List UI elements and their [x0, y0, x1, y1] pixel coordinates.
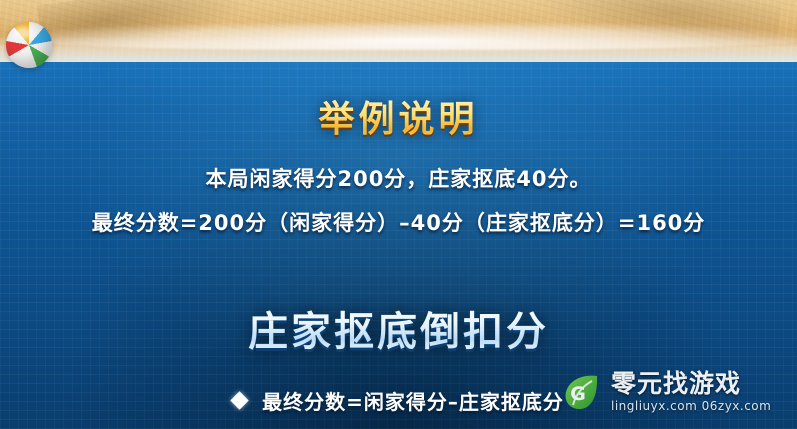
- game-help-screen: 举例说明 本局闲家得分200分，庄家抠底40分。 最终分数=200分（闲家得分）…: [0, 0, 797, 429]
- sand-strip: [0, 0, 797, 62]
- watermark-logo-icon: G: [559, 370, 603, 414]
- bullet-text: 最终分数=闲家得分–庄家抠底分: [262, 386, 564, 415]
- svg-text:G: G: [570, 383, 586, 405]
- section-heading: 庄家抠底倒扣分: [0, 299, 797, 357]
- watermark-text: 零元找游戏 lingliuyx.com 06zyx.com: [611, 371, 771, 413]
- watermark: G 零元找游戏 lingliuyx.com 06zyx.com: [559, 363, 789, 421]
- watermark-brand: 零元找游戏: [611, 371, 771, 397]
- beach-ball-highlight: [14, 27, 32, 39]
- page-title: 举例说明: [0, 90, 797, 142]
- diamond-bullet-icon: [230, 391, 248, 409]
- beach-ball-icon: [6, 22, 52, 68]
- water-wash: [0, 36, 797, 62]
- example-line-2: 最终分数=200分（闲家得分）–40分（庄家抠底分）=160分: [0, 207, 797, 237]
- watermark-urls: lingliuyx.com 06zyx.com: [611, 400, 771, 413]
- example-line-1: 本局闲家得分200分，庄家抠底40分。: [0, 163, 797, 193]
